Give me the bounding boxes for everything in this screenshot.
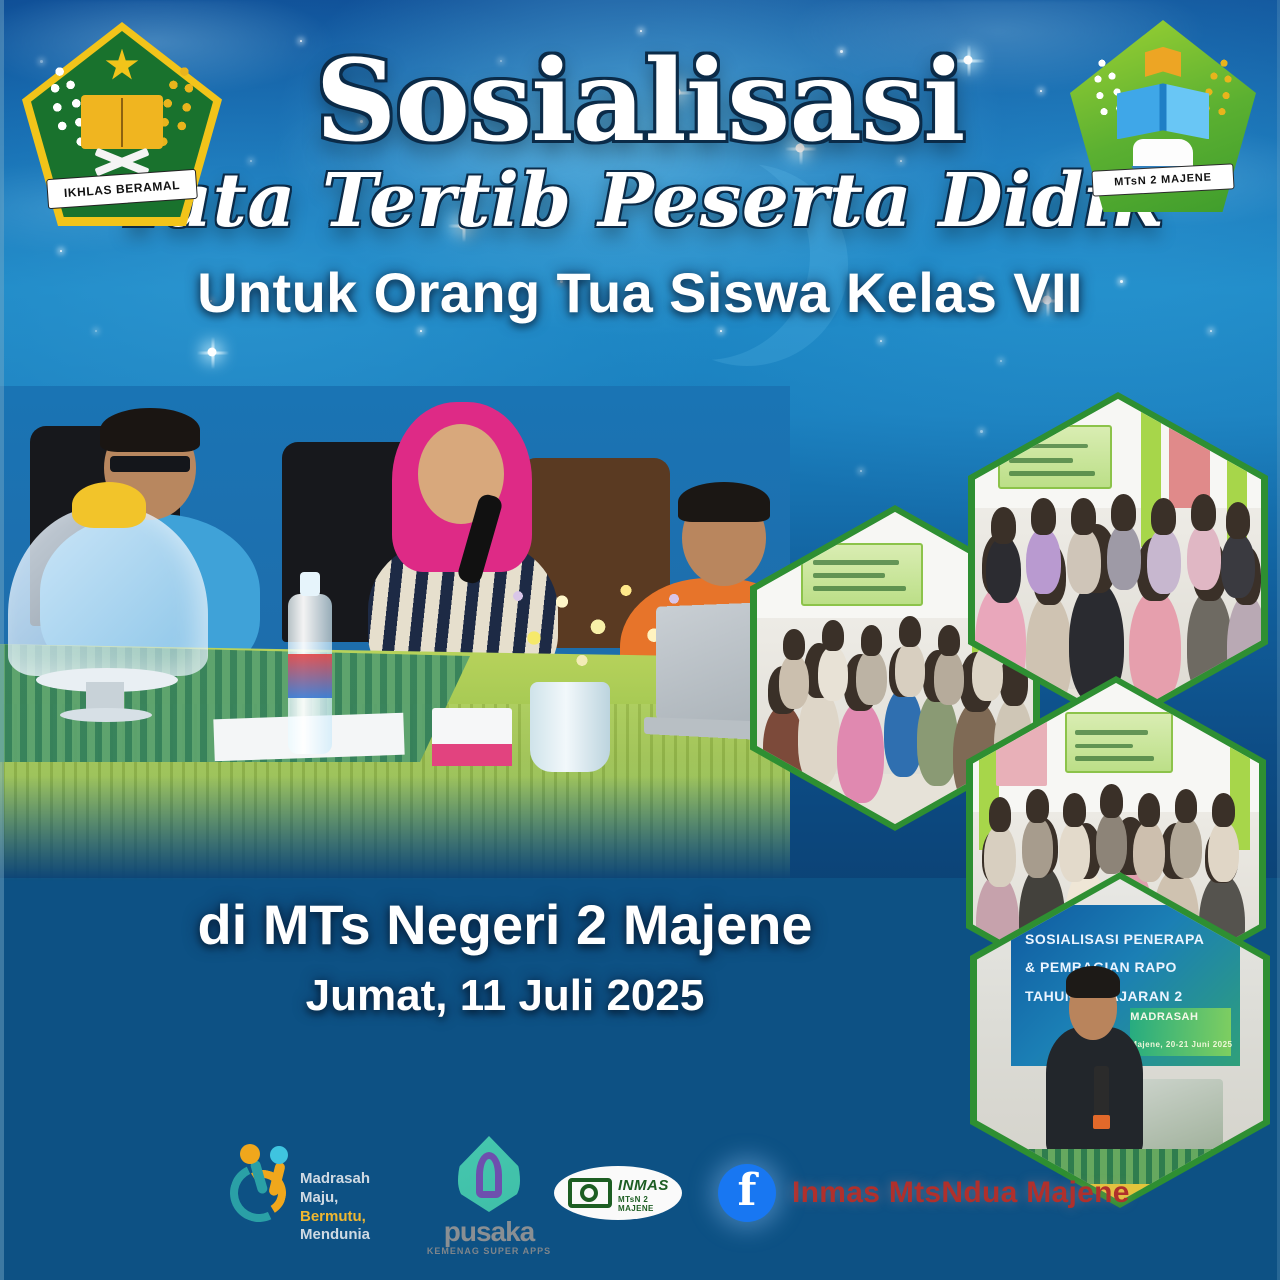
backdrop-line-1: SOSIALISASI PENERAPA [1025,931,1204,947]
inmas-logo: INMAS MTsN 2 MAJENE [554,1166,682,1220]
crossed-quills-icon [94,148,150,174]
facebook-page-name: Inmas MtsNdua Majene [792,1176,1130,1210]
facebook-glyph: f [718,1164,776,1222]
title-subtitle: Untuk Orang Tua Siswa Kelas VII [0,260,1280,325]
madrasah-line-2: Bermutu, [300,1208,398,1227]
event-poster: SOSIALISASI PENERAPA & PEMBAGIAN RAPO TA… [0,0,1280,1280]
backdrop-brand: MADRASAH [1130,1011,1198,1023]
inmas-subtitle: MTsN 2 MAJENE [618,1195,682,1213]
pusaka-p-icon [476,1152,502,1198]
backdrop-place: Majene, 20-21 Juni 2025 [1130,1040,1232,1049]
open-book-icon [81,95,163,149]
pusaka-logo: pusaka KEMENAG SUPER APPS [424,1136,554,1264]
madrasah-line-3: Mendunia [300,1226,398,1245]
facebook-icon[interactable]: f [718,1164,776,1222]
camera-lens-icon [580,1184,598,1202]
facebook-handle[interactable]: f Inmas MtsNdua Majene [718,1164,1130,1222]
pusaka-wordmark: pusaka [424,1216,554,1248]
madrasah-mark-icon [228,1144,294,1228]
mtsn2-majene-logo: MTsN 2 MAJENE [1070,20,1256,212]
kemenag-logo: IKHLAS BERAMAL [22,22,222,226]
venue-block: di MTs Negeri 2 Majene Jumat, 11 Juli 20… [0,892,1010,1021]
hall-banner [801,543,922,605]
madrasah-tagline: Madrasah Maju, Bermutu, Mendunia [300,1170,398,1245]
footer-logo-bar: Madrasah Maju, Bermutu, Mendunia pusaka … [0,1128,1280,1280]
inmas-wordmark: INMAS [618,1177,669,1194]
pusaka-tagline: KEMENAG SUPER APPS [424,1246,554,1256]
event-date: Jumat, 11 Juli 2025 [0,971,1010,1021]
speaker-hair [1066,966,1120,998]
hall-banner [998,425,1112,489]
hall-banner [1065,712,1174,773]
madrasah-line-1: Madrasah Maju, [300,1170,398,1208]
madrasah-maju-logo: Madrasah Maju, Bermutu, Mendunia [228,1144,398,1256]
venue-name: di MTs Negeri 2 Majene [0,892,1010,957]
microphone [1094,1066,1108,1118]
